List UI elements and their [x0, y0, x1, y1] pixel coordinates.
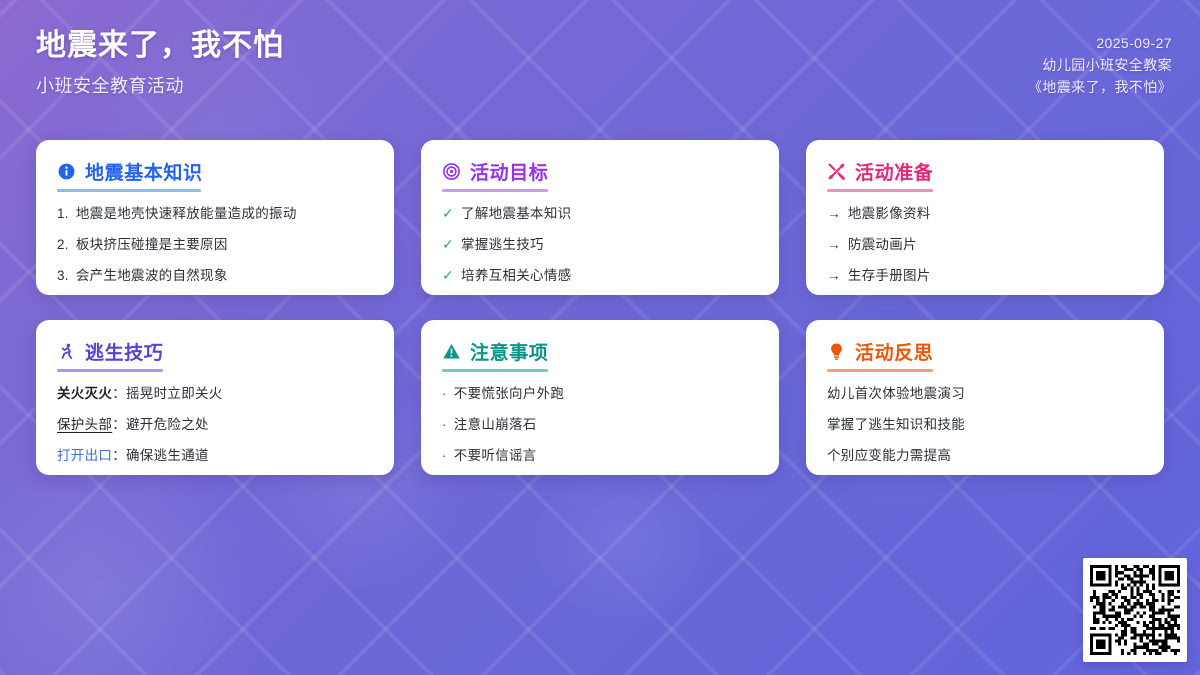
card-title: 活动准备: [855, 158, 933, 185]
header-date: 2025-09-27: [1028, 32, 1172, 54]
card-grid: 地震基本知识1.地震是地壳快速释放能量造成的振动2.板块挤压碰撞是主要原因3.会…: [36, 140, 1165, 475]
card-body: 幼儿首次体验地震演习掌握了逃生知识和技能个别应变能力需提高: [827, 384, 1143, 465]
card-line: ·不要慌张向户外跑: [442, 384, 758, 403]
page-title: 地震来了，我不怕: [36, 26, 284, 66]
card-line: 打开出口：确保逃生通道: [57, 446, 373, 465]
qr-code-image: [1090, 565, 1180, 655]
card-title-underline: [827, 369, 933, 372]
card-title-underline: [57, 189, 201, 192]
card-line: 关火灭火：摇晃时立即关火: [57, 384, 373, 403]
card-body: →地震影像资料→防震动画片→生存手册图片: [827, 204, 1143, 285]
line-marker: →: [827, 266, 841, 285]
line-rest: ：确保逃生通道: [112, 448, 209, 463]
line-rest: ：摇晃时立即关火: [112, 386, 222, 401]
card-body: ✓了解地震基本知识✓掌握逃生技巧✓培养互相关心情感: [442, 204, 758, 285]
card-title: 活动反思: [855, 338, 933, 365]
line-text: 会产生地震波的自然现象: [76, 266, 373, 285]
warning-triangle-icon: [442, 342, 461, 361]
line-text: 掌握了逃生知识和技能: [827, 415, 1143, 434]
page-subtitle: 小班安全教育活动: [36, 72, 284, 100]
line-text: 板块挤压碰撞是主要原因: [76, 235, 373, 254]
card-header: 活动目标: [442, 158, 758, 184]
line-marker: ✓: [442, 266, 454, 285]
card-header: 活动准备: [827, 158, 1143, 184]
line-marker: 3.: [57, 266, 69, 285]
card-title-underline: [827, 189, 933, 192]
header-meta-block: 2025-09-27 幼儿园小班安全教案 《地震来了，我不怕》: [1028, 32, 1172, 98]
card-line: 2.板块挤压碰撞是主要原因: [57, 235, 373, 254]
line-text: 幼儿首次体验地震演习: [827, 384, 1143, 403]
card-line: 幼儿首次体验地震演习: [827, 384, 1143, 403]
lightbulb-icon: [827, 342, 846, 361]
line-marker: ·: [442, 384, 447, 403]
qr-code[interactable]: [1083, 558, 1187, 662]
line-text: 防震动画片: [848, 235, 1143, 254]
page-header: 地震来了，我不怕 小班安全教育活动 2025-09-27 幼儿园小班安全教案 《…: [0, 0, 1200, 128]
line-text: 了解地震基本知识: [461, 204, 758, 223]
line-text: 生存手册图片: [848, 266, 1143, 285]
line-text: 注意山崩落石: [454, 415, 758, 434]
line-text: 打开出口：确保逃生通道: [57, 446, 373, 465]
card-line: →生存手册图片: [827, 266, 1143, 285]
line-lead: 打开出口: [57, 448, 112, 463]
line-marker: ·: [442, 415, 447, 434]
card-2: 活动目标✓了解地震基本知识✓掌握逃生技巧✓培养互相关心情感: [421, 140, 779, 295]
card-title: 逃生技巧: [85, 338, 163, 365]
header-title-block: 地震来了，我不怕 小班安全教育活动: [36, 26, 284, 100]
card-line: ·不要听信谣言: [442, 446, 758, 465]
card-line: 3.会产生地震波的自然现象: [57, 266, 373, 285]
card-line: ✓掌握逃生技巧: [442, 235, 758, 254]
line-lead: 保护头部: [57, 417, 112, 432]
running-person-icon: [57, 342, 76, 361]
line-marker: 1.: [57, 204, 69, 223]
card-line: 掌握了逃生知识和技能: [827, 415, 1143, 434]
line-marker: ✓: [442, 204, 454, 223]
line-marker: ✓: [442, 235, 454, 254]
card-header: 逃生技巧: [57, 338, 373, 364]
slide-canvas: 地震来了，我不怕 小班安全教育活动 2025-09-27 幼儿园小班安全教案 《…: [0, 0, 1200, 675]
card-6: 活动反思幼儿首次体验地震演习掌握了逃生知识和技能个别应变能力需提高: [806, 320, 1164, 475]
card-line: →防震动画片: [827, 235, 1143, 254]
line-marker: 2.: [57, 235, 69, 254]
info-circle-icon: [57, 162, 76, 181]
line-text: 保护头部：避开危险之处: [57, 415, 373, 434]
line-text: 不要慌张向户外跑: [454, 384, 758, 403]
card-line: 1.地震是地壳快速释放能量造成的振动: [57, 204, 373, 223]
card-line: ✓培养互相关心情感: [442, 266, 758, 285]
line-text: 掌握逃生技巧: [461, 235, 758, 254]
card-line: →地震影像资料: [827, 204, 1143, 223]
line-rest: ：避开危险之处: [112, 417, 209, 432]
line-text: 不要听信谣言: [454, 446, 758, 465]
line-text: 地震影像资料: [848, 204, 1143, 223]
card-header: 注意事项: [442, 338, 758, 364]
line-text: 地震是地壳快速释放能量造成的振动: [76, 204, 373, 223]
line-text: 关火灭火：摇晃时立即关火: [57, 384, 373, 403]
line-marker: →: [827, 235, 841, 254]
card-3: 活动准备→地震影像资料→防震动画片→生存手册图片: [806, 140, 1164, 295]
card-header: 地震基本知识: [57, 158, 373, 184]
line-marker: ·: [442, 446, 447, 465]
card-title: 活动目标: [470, 158, 548, 185]
card-body: 1.地震是地壳快速释放能量造成的振动2.板块挤压碰撞是主要原因3.会产生地震波的…: [57, 204, 373, 285]
card-5: 注意事项·不要慌张向户外跑·注意山崩落石·不要听信谣言: [421, 320, 779, 475]
card-title-underline: [57, 369, 163, 372]
card-title-underline: [442, 369, 548, 372]
card-line: 个别应变能力需提高: [827, 446, 1143, 465]
card-1: 地震基本知识1.地震是地壳快速释放能量造成的振动2.板块挤压碰撞是主要原因3.会…: [36, 140, 394, 295]
line-lead: 关火灭火: [57, 386, 112, 401]
card-4: 逃生技巧关火灭火：摇晃时立即关火保护头部：避开危险之处打开出口：确保逃生通道: [36, 320, 394, 475]
card-line: ✓了解地震基本知识: [442, 204, 758, 223]
card-title: 地震基本知识: [85, 158, 203, 185]
line-text: 培养互相关心情感: [461, 266, 758, 285]
card-line: ·注意山崩落石: [442, 415, 758, 434]
tools-icon: [827, 162, 846, 181]
line-text: 个别应变能力需提高: [827, 446, 1143, 465]
card-title: 注意事项: [470, 338, 548, 365]
card-body: 关火灭火：摇晃时立即关火保护头部：避开危险之处打开出口：确保逃生通道: [57, 384, 373, 465]
header-course-label: 幼儿园小班安全教案: [1028, 54, 1172, 76]
card-body: ·不要慌张向户外跑·注意山崩落石·不要听信谣言: [442, 384, 758, 465]
line-marker: →: [827, 204, 841, 223]
target-icon: [442, 162, 461, 181]
card-title-underline: [442, 189, 548, 192]
card-header: 活动反思: [827, 338, 1143, 364]
header-lesson-name: 《地震来了，我不怕》: [1028, 76, 1172, 98]
card-line: 保护头部：避开危险之处: [57, 415, 373, 434]
